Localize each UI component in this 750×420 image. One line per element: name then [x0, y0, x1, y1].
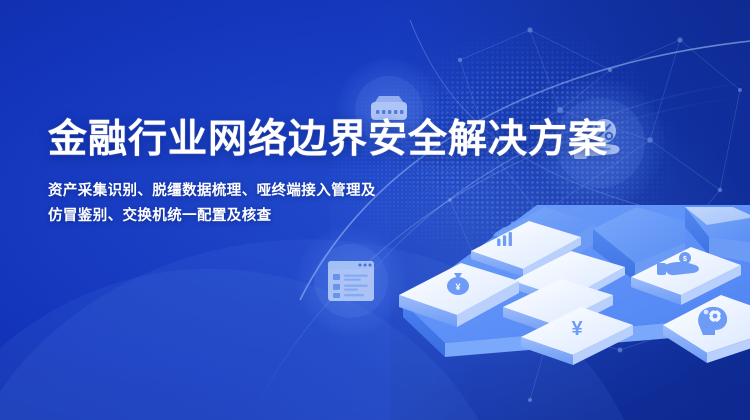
checklist-icon: [322, 255, 380, 307]
page-title: 金融行业网络边界安全解决方案: [48, 118, 518, 163]
yen-icon: ¥: [715, 208, 723, 224]
page-subtitle: 资产采集识别、脱缰数据梳理、哑终端接入管理及 仿冒鉴别、交换机统一配置及核查: [48, 179, 518, 230]
subtitle-line-2: 仿冒鉴别、交换机统一配置及核查: [48, 204, 518, 229]
solution-banner: ¥ ¥ $ ¥: [0, 0, 750, 420]
banner-copy: 金融行业网络边界安全解决方案 资产采集识别、脱缰数据梳理、哑终端接入管理及 仿冒…: [48, 118, 518, 230]
yen-icon: ¥: [571, 318, 583, 340]
svg-text:¥: ¥: [455, 282, 460, 292]
subtitle-line-1: 资产采集识别、脱缰数据梳理、哑终端接入管理及: [48, 179, 518, 204]
svg-text:$: $: [683, 256, 687, 263]
